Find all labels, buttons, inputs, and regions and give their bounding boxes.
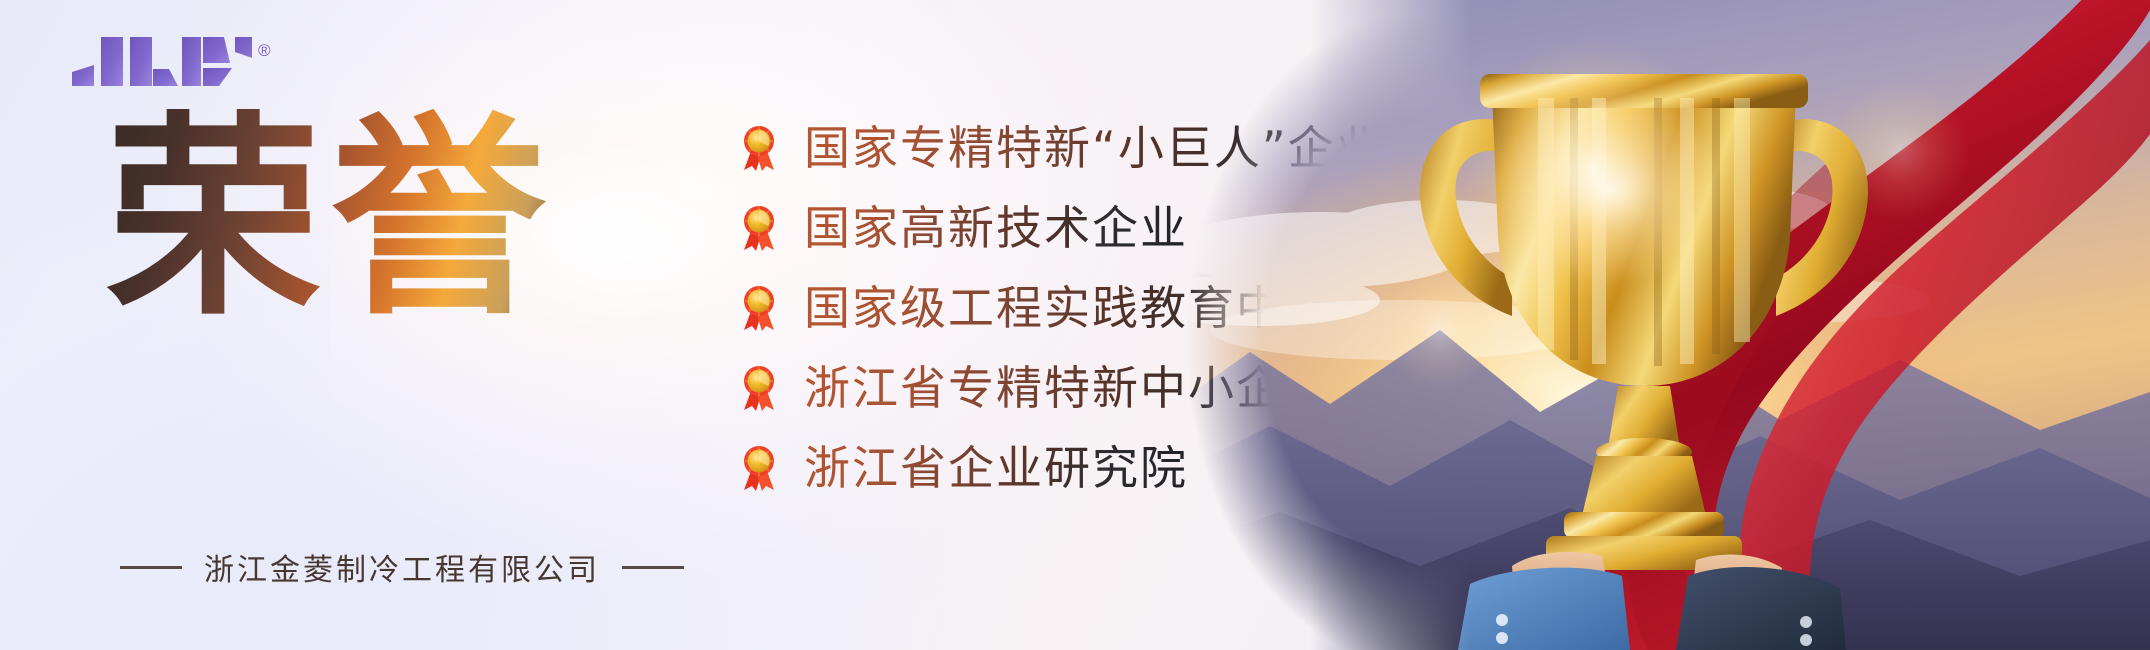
honour-label: 国家高新技术企业 (804, 203, 1188, 254)
honour-label: 浙江省企业研究院 (804, 443, 1188, 494)
trophy-artwork (1140, 0, 2150, 650)
company-name: 浙江金菱制冷工程有限公司 (204, 545, 600, 589)
jlrt-logo-icon (72, 36, 252, 86)
award-medal-icon (740, 365, 778, 411)
award-medal-icon (740, 205, 778, 251)
registered-trademark-symbol: ® (258, 42, 271, 59)
award-medal-icon (740, 125, 778, 171)
company-name-row: 浙江金菱制冷工程有限公司 (120, 545, 684, 589)
divider-left (120, 566, 182, 569)
divider-right (622, 566, 684, 569)
honour-banner: ® 荣誉 浙江金菱制冷工程有限公司 (0, 0, 2150, 650)
company-logo[interactable]: ® (72, 36, 271, 86)
page-title: 荣誉 (106, 108, 556, 329)
award-medal-icon (740, 285, 778, 331)
award-medal-icon (740, 445, 778, 491)
